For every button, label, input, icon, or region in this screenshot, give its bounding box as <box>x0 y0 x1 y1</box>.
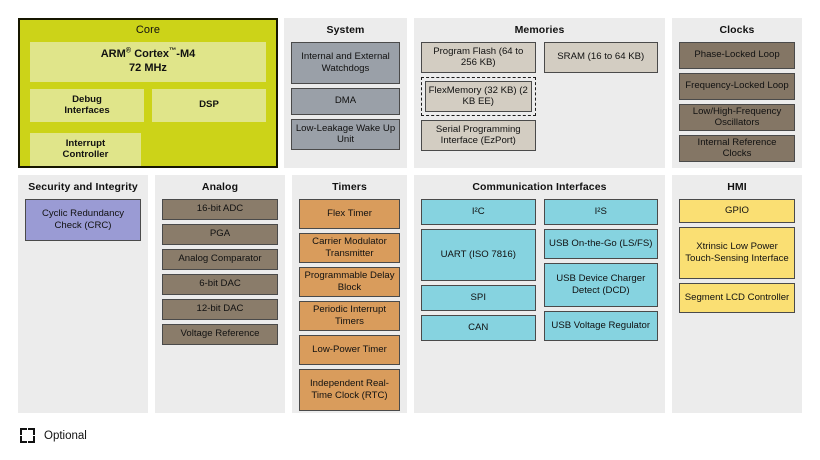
block-sram: SRAM (16 to 64 KB) <box>544 42 659 73</box>
panel-system-title: System <box>291 24 400 37</box>
block-program-flash: Program Flash (64 to 256 KB) <box>421 42 536 73</box>
block-low-power-timer: Low-Power Timer <box>299 335 400 365</box>
block-flexmemory: FlexMemory (32 KB) (2 KB EE) <box>425 81 532 112</box>
block-16-bit-adc: 16-bit ADC <box>162 199 278 220</box>
panel-timers-title: Timers <box>299 181 400 194</box>
optional-marker-flexmemory: FlexMemory (32 KB) (2 KB EE) <box>421 77 536 116</box>
block-usb-otg: USB On-the-Go (LS/FS) <box>544 229 659 259</box>
block-watchdogs: Internal and External Watchdogs <box>291 42 400 84</box>
panel-communication-interfaces: Communication Interfaces I²C UART (ISO 7… <box>414 175 665 413</box>
block-gpio: GPIO <box>679 199 795 223</box>
panel-analog-title: Analog <box>162 181 278 194</box>
block-carrier-modulator-transmitter: Carrier Modulator Transmitter <box>299 233 400 263</box>
block-debug-interfaces: Debug Interfaces <box>30 89 144 122</box>
block-i2s: I²S <box>544 199 659 225</box>
block-interrupt-controller: Interrupt Controller <box>30 133 141 166</box>
block-segment-lcd-controller: Segment LCD Controller <box>679 283 795 313</box>
panel-clocks: Clocks Phase-Locked Loop Frequency-Locke… <box>672 18 802 168</box>
debug-line2: Interfaces <box>64 105 109 116</box>
block-dma: DMA <box>291 88 400 115</box>
panel-analog: Analog 16-bit ADC PGA Analog Comparator … <box>155 175 285 413</box>
legend-label: Optional <box>44 430 87 442</box>
block-usb-voltage-regulator: USB Voltage Regulator <box>544 311 659 341</box>
panel-hmi-title: HMI <box>679 181 795 194</box>
communication-right-column: I²S USB On-the-Go (LS/FS) USB Device Cha… <box>544 199 659 341</box>
debug-line1: Debug <box>72 94 102 105</box>
block-analog-comparator: Analog Comparator <box>162 249 278 270</box>
block-can: CAN <box>421 315 536 341</box>
panel-core-title: Core <box>20 24 276 37</box>
block-6-bit-dac: 6-bit DAC <box>162 274 278 295</box>
memories-right-column: SRAM (16 to 64 KB) <box>544 42 659 151</box>
panel-clocks-title: Clocks <box>679 24 795 37</box>
block-spi: SPI <box>421 285 536 311</box>
block-arm-cortex-m4: ARM® Cortex™-M4 72 MHz <box>30 42 266 82</box>
interrupt-line2: Controller <box>63 149 109 160</box>
memories-left-column: Program Flash (64 to 256 KB) FlexMemory … <box>421 42 536 151</box>
block-12-bit-dac: 12-bit DAC <box>162 299 278 320</box>
block-periodic-interrupt-timers: Periodic Interrupt Timers <box>299 301 400 331</box>
panel-memories: Memories Program Flash (64 to 256 KB) Fl… <box>414 18 665 168</box>
panel-core: Core ARM® Cortex™-M4 72 MHz Debug Interf… <box>18 18 278 168</box>
block-frequency-locked-loop: Frequency-Locked Loop <box>679 73 795 100</box>
panel-communication-title: Communication Interfaces <box>421 181 658 194</box>
block-low-leakage-wakeup-unit: Low-Leakage Wake Up Unit <box>291 119 400 150</box>
communication-left-column: I²C UART (ISO 7816) SPI CAN <box>421 199 536 341</box>
block-uart: UART (ISO 7816) <box>421 229 536 281</box>
interrupt-line1: Interrupt <box>66 138 105 149</box>
block-pga: PGA <box>162 224 278 245</box>
block-serial-programming-interface: Serial Programming Interface (EzPort) <box>421 120 536 151</box>
block-phase-locked-loop: Phase-Locked Loop <box>679 42 795 69</box>
panel-security-and-integrity: Security and Integrity Cyclic Redundancy… <box>18 175 148 413</box>
block-independent-rtc: Independent Real-Time Clock (RTC) <box>299 369 400 411</box>
block-programmable-delay-block: Programmable Delay Block <box>299 267 400 297</box>
panel-hmi: HMI GPIO Xtrinsic Low Power Touch-Sensin… <box>672 175 802 413</box>
legend: Optional <box>20 428 87 443</box>
panel-system: System Internal and External Watchdogs D… <box>284 18 407 168</box>
block-i2c: I²C <box>421 199 536 225</box>
block-dsp: DSP <box>152 89 266 122</box>
block-oscillators: Low/High-Frequency Oscillators <box>679 104 795 131</box>
block-voltage-reference: Voltage Reference <box>162 324 278 345</box>
dashed-square-icon <box>20 428 35 443</box>
core-cpu-line2: 72 MHz <box>129 62 167 74</box>
block-cyclic-redundancy-check: Cyclic Redundancy Check (CRC) <box>25 199 141 241</box>
block-touch-sensing-interface: Xtrinsic Low Power Touch-Sensing Interfa… <box>679 227 795 279</box>
block-internal-reference-clocks: Internal Reference Clocks <box>679 135 795 162</box>
panel-timers: Timers Flex Timer Carrier Modulator Tran… <box>292 175 407 413</box>
panel-memories-title: Memories <box>421 24 658 37</box>
block-usb-device-charger-detect: USB Device Charger Detect (DCD) <box>544 263 659 307</box>
panel-security-title: Security and Integrity <box>25 181 141 194</box>
block-flex-timer: Flex Timer <box>299 199 400 229</box>
core-cpu-line1: ARM® Cortex™-M4 <box>101 48 196 60</box>
